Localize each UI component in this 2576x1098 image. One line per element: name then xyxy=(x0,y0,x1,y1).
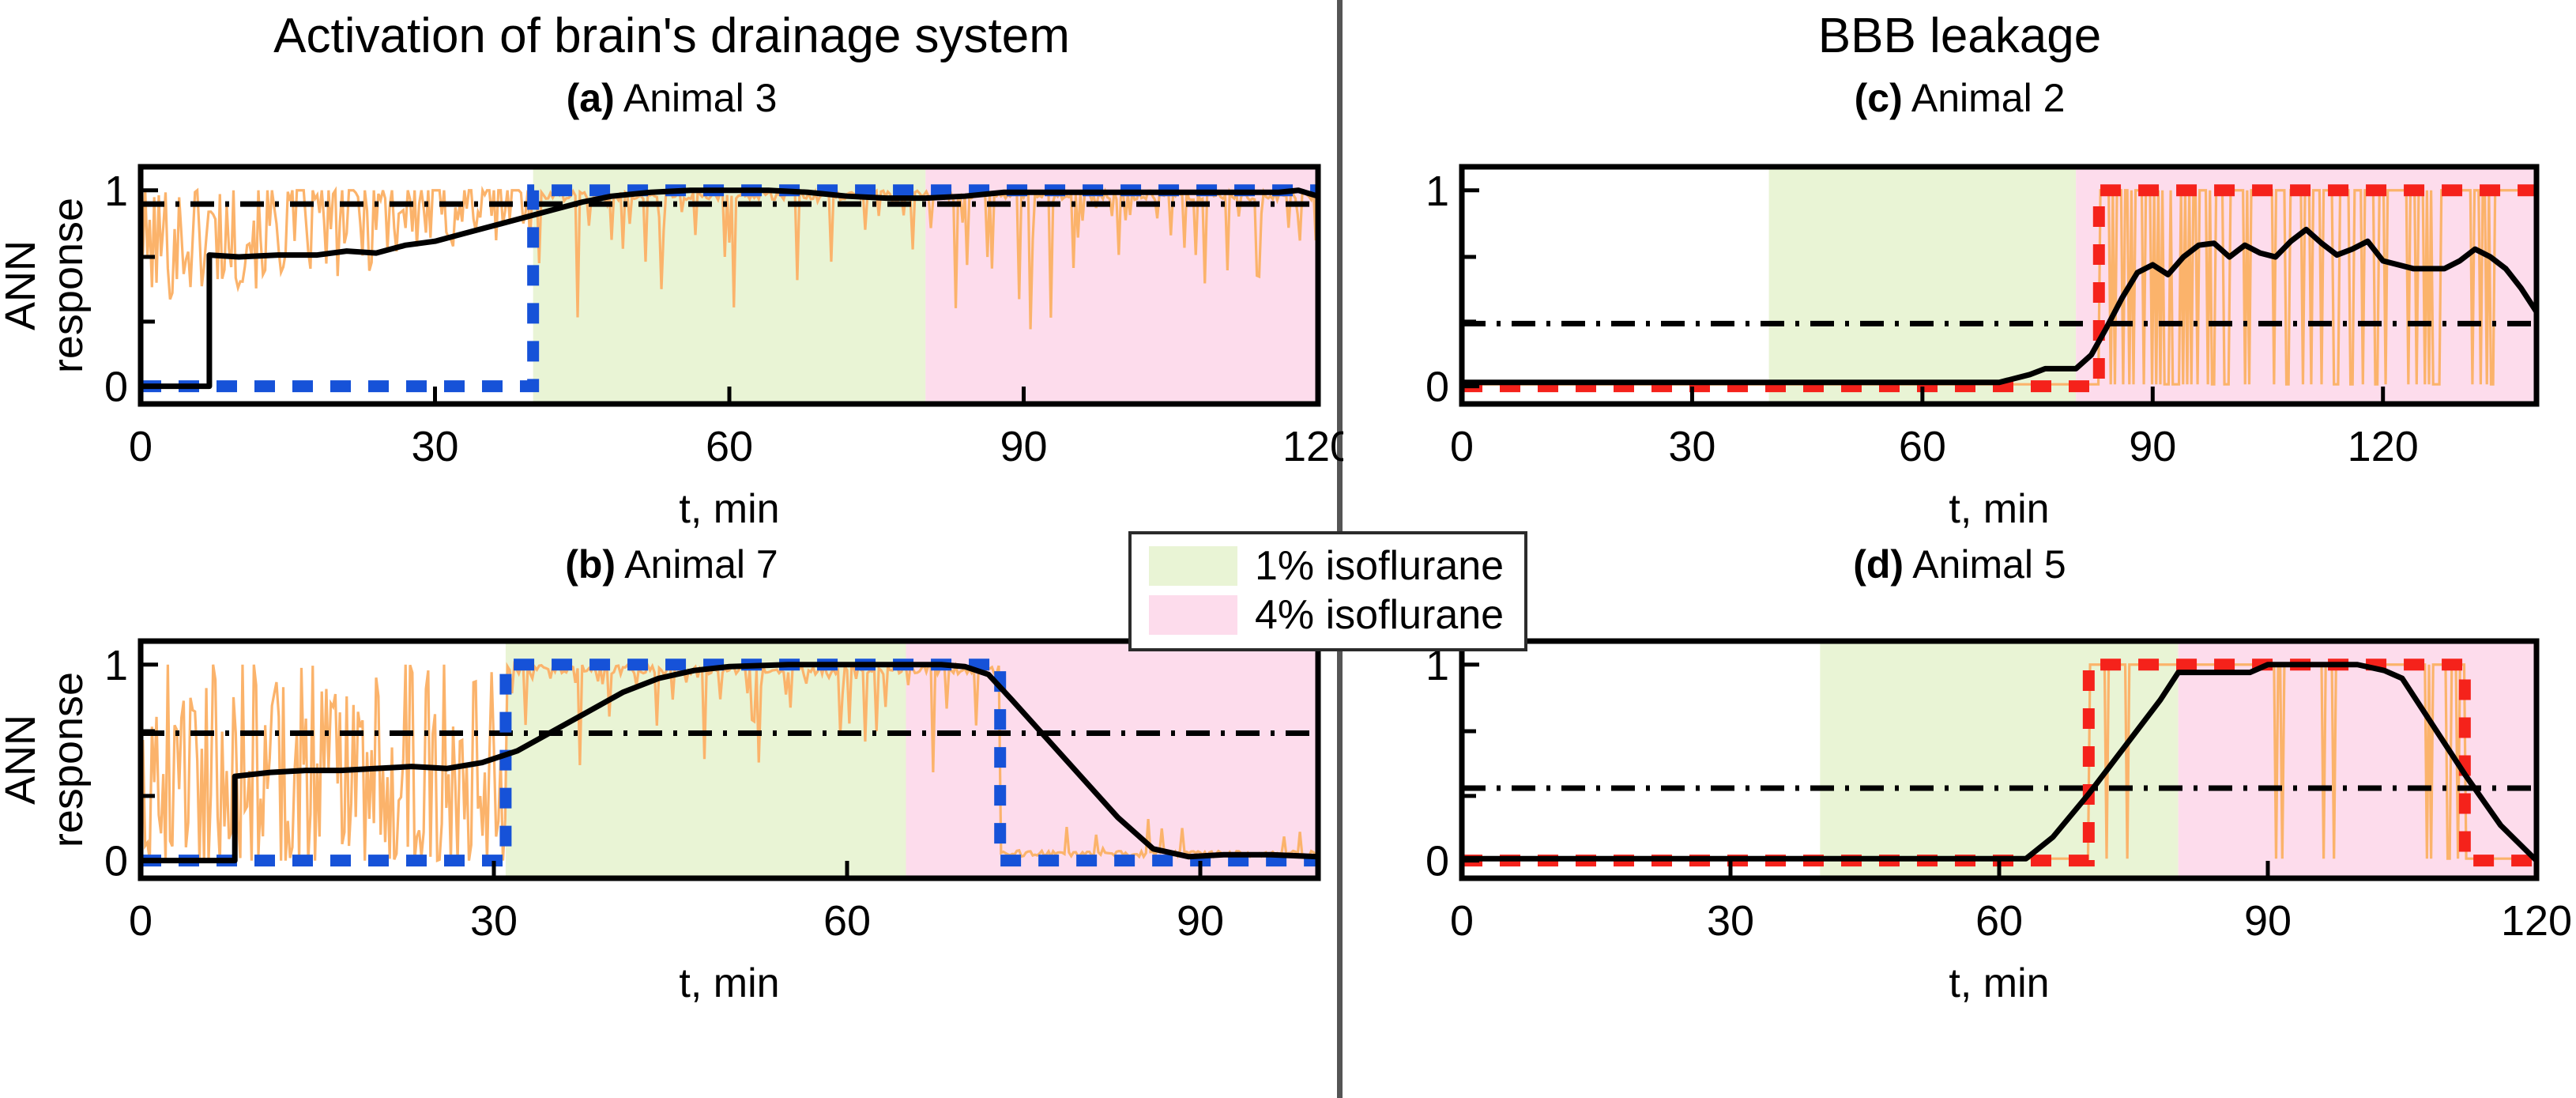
xaxis-title-c: t, min xyxy=(1949,486,2049,532)
plot-d: 030609012001t, min xyxy=(1343,541,2576,1016)
panel-letter-a: (a) xyxy=(567,76,615,120)
ytick-label-a-1: 1 xyxy=(104,168,128,215)
xaxis-title-d: t, min xyxy=(1949,960,2049,1006)
ytick-label-b-0: 0 xyxy=(104,838,128,885)
panel-animal-a: Animal 3 xyxy=(615,76,778,120)
xtick-label-a-2: 60 xyxy=(706,423,753,470)
xtick-label-a-0: 0 xyxy=(129,423,153,470)
legend-item-1pct: 1% isoflurane xyxy=(1149,545,1504,587)
svg-text:ANN: ANN xyxy=(0,240,44,330)
legend-label-4pct: 4% isoflurane xyxy=(1255,594,1504,636)
panel-title-d: (d) Animal 5 xyxy=(1343,541,2576,587)
panel-animal-d: Animal 5 xyxy=(1904,542,2066,587)
legend-swatch-pink xyxy=(1149,595,1237,635)
xtick-label-c-0: 0 xyxy=(1450,423,1474,470)
ytick-label-b-1: 1 xyxy=(104,642,128,689)
xaxis-title-a: t, min xyxy=(679,486,779,532)
panel-c: (c) Animal 2030609012001t, min xyxy=(1343,75,2576,541)
xtick-label-a-1: 30 xyxy=(411,423,458,470)
shade-4pct xyxy=(2179,641,2536,878)
xtick-label-d-3: 90 xyxy=(2244,897,2292,945)
legend-swatch-green xyxy=(1149,546,1237,586)
plot-a: 030609012001t, minANNresponse xyxy=(0,75,1343,541)
ytick-label-c-1: 1 xyxy=(1425,168,1449,215)
panel-title-a: (a) Animal 3 xyxy=(0,75,1343,121)
yaxis-title-a: ANNresponse xyxy=(0,198,92,373)
xtick-label-d-1: 30 xyxy=(1707,897,1754,945)
ytick-label-a-0: 0 xyxy=(104,364,128,411)
shade-4pct xyxy=(906,641,1319,878)
xtick-label-b-1: 30 xyxy=(470,897,518,945)
shade-1pct xyxy=(1769,167,2077,404)
xtick-label-c-3: 90 xyxy=(2129,423,2176,470)
panel-letter-d: (d) xyxy=(1853,542,1904,587)
xaxis-title-b: t, min xyxy=(679,960,779,1006)
ytick-label-d-0: 0 xyxy=(1425,838,1449,885)
xtick-label-b-3: 90 xyxy=(1177,897,1224,945)
svg-text:response: response xyxy=(44,198,92,373)
svg-text:response: response xyxy=(44,672,92,847)
xtick-label-b-0: 0 xyxy=(129,897,153,945)
xtick-label-d-2: 60 xyxy=(1975,897,2023,945)
legend-label-1pct: 1% isoflurane xyxy=(1255,545,1504,587)
ytick-label-c-0: 0 xyxy=(1425,364,1449,411)
figure-root: Activation of brain's drainage system BB… xyxy=(0,0,2576,1098)
xtick-label-a-4: 120 xyxy=(1282,423,1343,470)
panel-d: (d) Animal 5030609012001t, min xyxy=(1343,541,2576,1016)
panel-a: (a) Animal 3030609012001t, minANNrespons… xyxy=(0,75,1343,541)
svg-text:ANN: ANN xyxy=(0,715,44,805)
plot-c: 030609012001t, min xyxy=(1343,75,2576,541)
panel-animal-c: Animal 2 xyxy=(1903,76,2066,120)
xtick-label-d-4: 120 xyxy=(2501,897,2572,945)
legend: 1% isoflurane 4% isoflurane xyxy=(1128,531,1527,651)
xtick-label-d-0: 0 xyxy=(1450,897,1474,945)
group-title-left: Activation of brain's drainage system xyxy=(0,8,1343,64)
xtick-label-b-2: 60 xyxy=(823,897,871,945)
xtick-label-c-2: 60 xyxy=(1899,423,1946,470)
xtick-label-c-4: 120 xyxy=(2348,423,2419,470)
yaxis-title-b: ANNresponse xyxy=(0,672,92,847)
panel-title-c: (c) Animal 2 xyxy=(1343,75,2576,121)
group-title-right: BBB leakage xyxy=(1343,8,2576,64)
xtick-label-c-1: 30 xyxy=(1668,423,1715,470)
panel-letter-b: (b) xyxy=(565,542,616,587)
panel-letter-c: (c) xyxy=(1855,76,1903,120)
legend-item-4pct: 4% isoflurane xyxy=(1149,594,1504,636)
panel-animal-b: Animal 7 xyxy=(616,542,778,587)
xtick-label-a-3: 90 xyxy=(1000,423,1047,470)
